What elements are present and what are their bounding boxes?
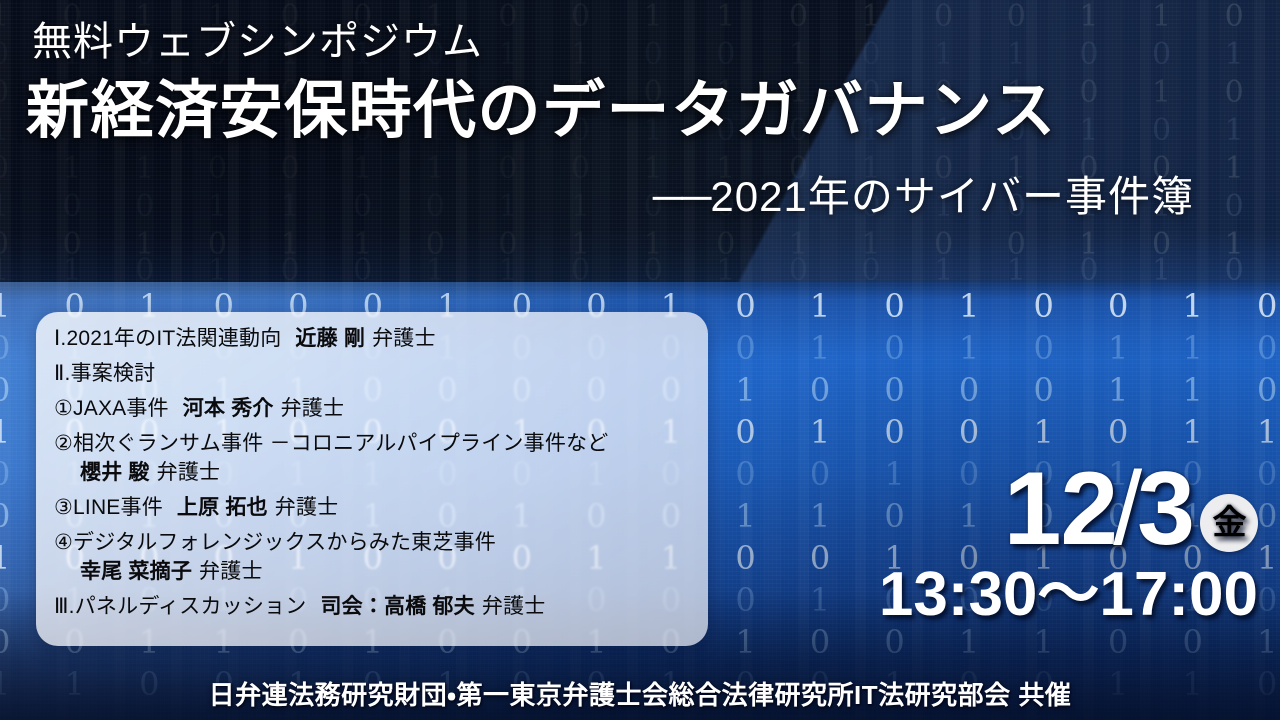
program-item-role: 弁護士: [199, 560, 263, 583]
program-item-title: JAXA事件: [73, 397, 169, 420]
program-item: 櫻井 駿弁護士: [54, 462, 694, 483]
program-item-speaker: 上原 拓也: [177, 496, 268, 519]
program-list: Ⅰ.2021年のIT法関連動向近藤 剛弁護士Ⅱ.事案検討①JAXA事件河本 秀介…: [54, 328, 694, 617]
event-headline: 新経済安保時代のデータガバナンス: [26, 80, 1057, 143]
program-item-number: Ⅱ.: [54, 362, 71, 385]
organizer-footer: 日弁連法務研究財団・第一東京弁護士会総合法律研究所IT法研究部会 共催: [0, 675, 1280, 712]
program-item-number: ①: [54, 397, 73, 420]
day-of-week-badge: 金: [1200, 494, 1258, 552]
program-item-speaker: 櫻井 駿: [80, 461, 150, 484]
program-panel: Ⅰ.2021年のIT法関連動向近藤 剛弁護士Ⅱ.事案検討①JAXA事件河本 秀介…: [36, 312, 708, 646]
subtitle-dash: ──: [653, 173, 711, 220]
program-item: ②相次ぐランサム事件 －コロニアルパイプライン事件など: [54, 433, 694, 454]
event-subtitle: ──2021年のサイバー事件簿: [653, 175, 1194, 219]
program-item-title: デジタルフォレンジックスからみた東芝事件: [73, 531, 496, 554]
date-day: 3: [1137, 462, 1194, 558]
program-item-role: 弁護士: [372, 327, 436, 350]
poster-canvas: 1 0 1 1 0 0 1 0 0 1 1 0 1 0 0 1 1 0 1 0 …: [0, 0, 1280, 720]
event-kicker: 無料ウェブシンポジウム: [32, 21, 483, 63]
program-item-role: 弁護士: [281, 397, 345, 420]
event-date: 12/3 金: [798, 462, 1258, 558]
program-item-speaker: 河本 秀介: [183, 397, 274, 420]
program-item-title: 事案検討: [71, 362, 156, 385]
program-item: ④デジタルフォレンジックスからみた東芝事件: [54, 532, 694, 553]
program-item: Ⅱ.事案検討: [54, 363, 694, 384]
program-item-number: Ⅰ.: [54, 327, 66, 350]
date-time-block: 12/3 金 13:30〜17:00: [798, 462, 1258, 642]
program-item: ③LINE事件上原 拓也弁護士: [54, 497, 694, 518]
program-item-number: ③: [54, 496, 73, 519]
program-item: 幸尾 菜摘子弁護士: [54, 561, 694, 582]
program-item-speaker: 幸尾 菜摘子: [80, 560, 192, 583]
program-item-role: 弁護士: [157, 461, 221, 484]
program-item-role: 弁護士: [482, 595, 546, 618]
program-item-number: Ⅲ.: [54, 595, 75, 618]
program-item-role: 弁護士: [275, 496, 339, 519]
program-item-speaker: 司会：高橋 郁夫: [320, 595, 474, 618]
date-month: 12: [1004, 462, 1118, 558]
subtitle-text: 2021年のサイバー事件簿: [710, 173, 1194, 220]
program-item-speaker: 近藤 剛: [295, 327, 365, 350]
program-item-title: LINE事件: [73, 496, 163, 519]
program-item-title: パネルディスカッション: [75, 595, 307, 618]
program-item-number: ④: [54, 531, 73, 554]
event-time: 13:30〜17:00: [798, 564, 1258, 626]
program-item: Ⅲ.パネルディスカッション司会：高橋 郁夫弁護士: [54, 596, 694, 617]
program-item-number: ②: [54, 432, 73, 455]
program-item: ①JAXA事件河本 秀介弁護士: [54, 398, 694, 419]
program-item-title: 2021年のIT法関連動向: [66, 327, 281, 350]
program-item-title: 相次ぐランサム事件 －コロニアルパイプライン事件など: [73, 432, 608, 455]
program-item: Ⅰ.2021年のIT法関連動向近藤 剛弁護士: [54, 328, 694, 349]
